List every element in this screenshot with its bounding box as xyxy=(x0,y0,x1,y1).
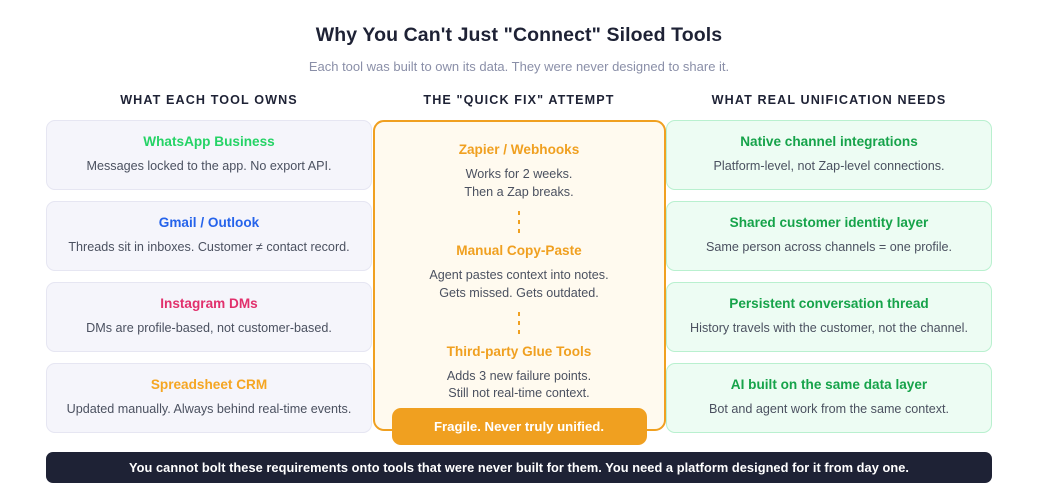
quick-fix-step-title: Zapier / Webhooks xyxy=(389,142,650,157)
page-subtitle: Each tool was built to own its data. The… xyxy=(0,59,1038,74)
need-card-title: Native channel integrations xyxy=(679,135,979,150)
tool-card-desc: DMs are profile-based, not customer-base… xyxy=(59,321,359,336)
tool-card-title: Instagram DMs xyxy=(59,297,359,312)
dotted-connector-icon xyxy=(518,312,520,336)
column-header-tools: WHAT EACH TOOL OWNS xyxy=(46,93,372,107)
need-card-desc: Same person across channels = one profil… xyxy=(679,240,979,255)
quick-fix-step: Manual Copy-Paste Agent pastes context i… xyxy=(389,243,650,303)
need-card-title: Persistent conversation thread xyxy=(679,297,979,312)
column-quick-fix: THE "QUICK FIX" ATTEMPT Zapier / Webhook… xyxy=(373,93,666,431)
footer-banner: You cannot bolt these requirements onto … xyxy=(46,452,992,483)
dotted-connector-icon xyxy=(518,211,520,235)
tool-card-title: Spreadsheet CRM xyxy=(59,378,359,393)
quick-fix-step-title: Manual Copy-Paste xyxy=(389,243,650,258)
tool-card-desc: Threads sit in inboxes. Customer ≠ conta… xyxy=(59,240,359,255)
need-card-title: Shared customer identity layer xyxy=(679,216,979,231)
quick-fix-step-line: Adds 3 new failure points. xyxy=(389,368,650,386)
columns-container: WHAT EACH TOOL OWNS WhatsApp Business Me… xyxy=(0,93,1038,433)
quick-fix-panel: Zapier / Webhooks Works for 2 weeks. The… xyxy=(373,120,666,431)
tool-card: WhatsApp Business Messages locked to the… xyxy=(46,120,372,190)
need-card: Persistent conversation thread History t… xyxy=(666,282,992,352)
need-card-desc: Platform-level, not Zap-level connection… xyxy=(679,159,979,174)
quick-fix-step-line: Works for 2 weeks. xyxy=(389,166,650,184)
need-card: Native channel integrations Platform-lev… xyxy=(666,120,992,190)
tool-card-title: WhatsApp Business xyxy=(59,135,359,150)
need-card: Shared customer identity layer Same pers… xyxy=(666,201,992,271)
quick-fix-step-line: Then a Zap breaks. xyxy=(389,184,650,202)
quick-fix-step: Third-party Glue Tools Adds 3 new failur… xyxy=(389,344,650,404)
tool-card: Spreadsheet CRM Updated manually. Always… xyxy=(46,363,372,433)
quick-fix-step-title: Third-party Glue Tools xyxy=(389,344,650,359)
page-title: Why You Can't Just "Connect" Siloed Tool… xyxy=(0,24,1038,47)
tool-card: Gmail / Outlook Threads sit in inboxes. … xyxy=(46,201,372,271)
quick-fix-step-line: Still not real-time context. xyxy=(389,385,650,403)
tool-card-title: Gmail / Outlook xyxy=(59,216,359,231)
infographic-page: Why You Can't Just "Connect" Siloed Tool… xyxy=(0,0,1038,492)
fragile-callout-banner: Fragile. Never truly unified. xyxy=(392,408,647,445)
column-header-needs: WHAT REAL UNIFICATION NEEDS xyxy=(666,93,992,107)
page-header: Why You Can't Just "Connect" Siloed Tool… xyxy=(0,0,1038,74)
need-card-title: AI built on the same data layer xyxy=(679,378,979,393)
quick-fix-step: Zapier / Webhooks Works for 2 weeks. The… xyxy=(389,142,650,202)
tool-card-desc: Updated manually. Always behind real-tim… xyxy=(59,402,359,417)
quick-fix-step-line: Agent pastes context into notes. xyxy=(389,267,650,285)
quick-fix-step-line: Gets missed. Gets outdated. xyxy=(389,285,650,303)
need-card-desc: Bot and agent work from the same context… xyxy=(679,402,979,417)
column-unification-needs: WHAT REAL UNIFICATION NEEDS Native chann… xyxy=(666,93,992,433)
tool-card: Instagram DMs DMs are profile-based, not… xyxy=(46,282,372,352)
column-tools-owned: WHAT EACH TOOL OWNS WhatsApp Business Me… xyxy=(46,93,372,433)
column-header-quick-fix: THE "QUICK FIX" ATTEMPT xyxy=(373,93,666,107)
need-card-desc: History travels with the customer, not t… xyxy=(679,321,979,336)
tool-card-desc: Messages locked to the app. No export AP… xyxy=(59,159,359,174)
need-card: AI built on the same data layer Bot and … xyxy=(666,363,992,433)
